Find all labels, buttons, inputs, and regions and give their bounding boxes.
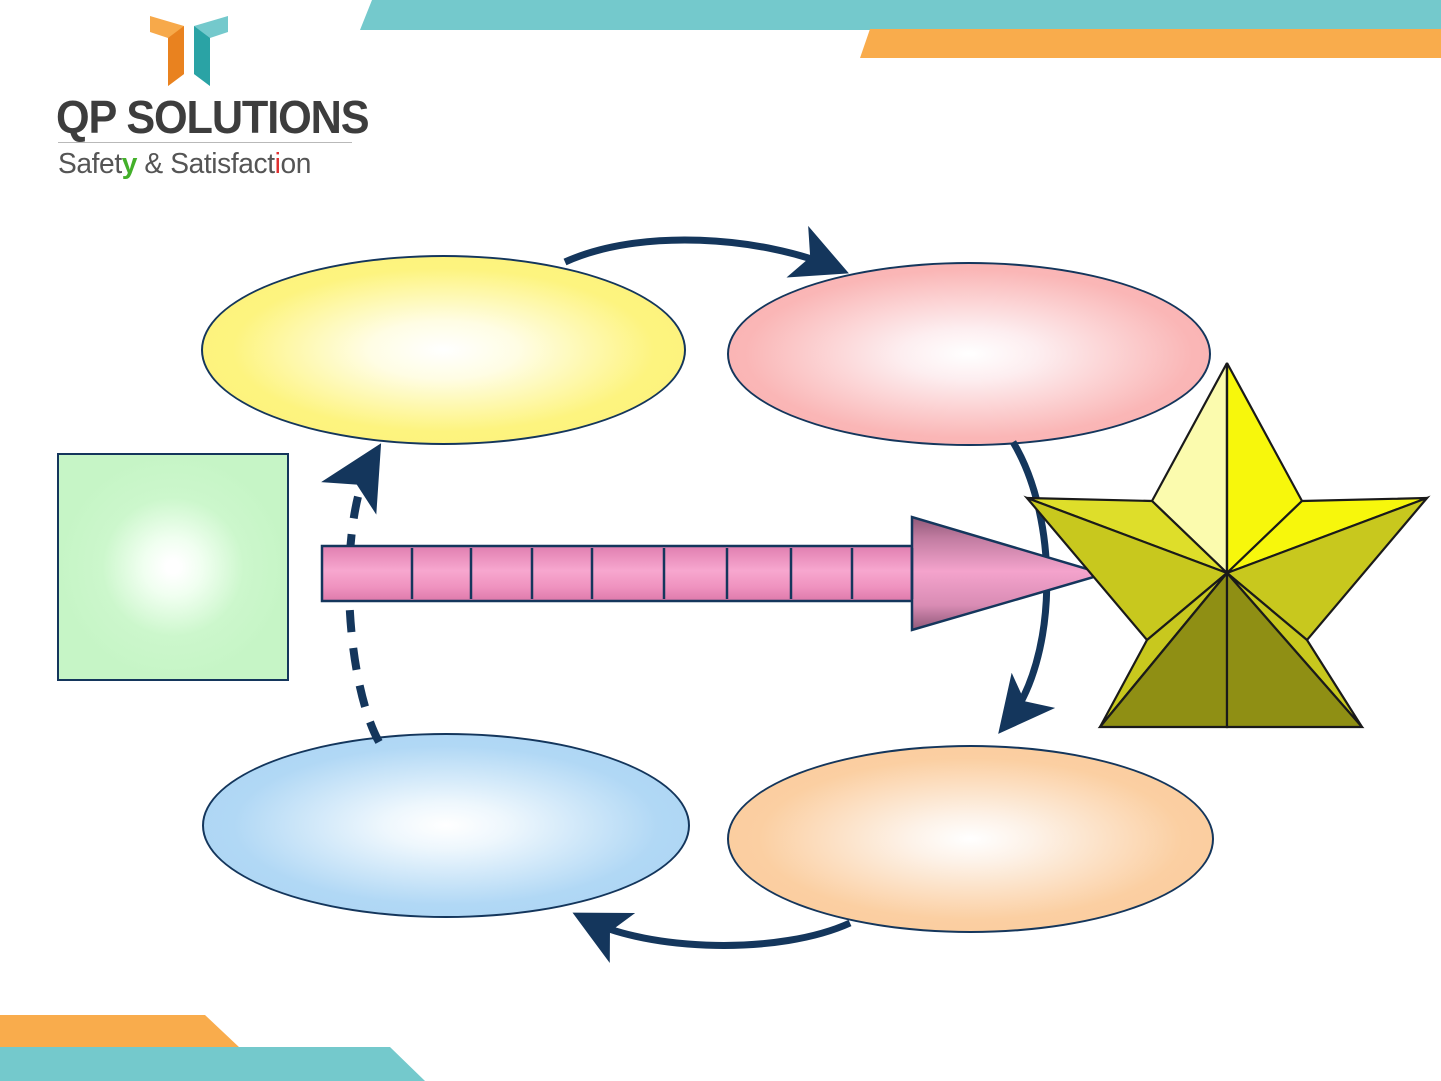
arrow-pink-to-orange [1007, 442, 1047, 723]
progress-tick-marks [412, 548, 852, 599]
open-book-logo-mark [146, 12, 232, 88]
tagline-middle: & Satisfact [137, 148, 275, 180]
tagline-check-accent: y [122, 148, 137, 180]
bottom-teal-band [0, 1047, 425, 1081]
top-orange-band [860, 29, 1441, 58]
tagline-suffix: on [280, 148, 311, 180]
green-rectangle[interactable] [57, 453, 289, 681]
orange-ellipse[interactable] [727, 745, 1214, 933]
bottom-orange-band [0, 1015, 240, 1048]
brand-logo: QP SOLUTIONS Safety & Satisfaction [56, 12, 356, 192]
pink-ellipse[interactable] [727, 262, 1211, 446]
yellow-ellipse[interactable] [201, 255, 686, 445]
brand-tagline: Safety & Satisfaction [58, 148, 349, 181]
slide-canvas: QP SOLUTIONS Safety & Satisfaction [0, 0, 1441, 1081]
arrow-blue-to-yellow [349, 457, 379, 742]
blue-ellipse[interactable] [202, 733, 690, 918]
arrow-yellow-to-pink [565, 240, 836, 268]
arrow-orange-to-blue [585, 919, 850, 945]
top-teal-band [360, 0, 1441, 30]
tagline-prefix: Safet [58, 148, 122, 180]
logo-divider-rule [58, 142, 352, 143]
brand-wordmark: QP SOLUTIONS [56, 90, 338, 138]
